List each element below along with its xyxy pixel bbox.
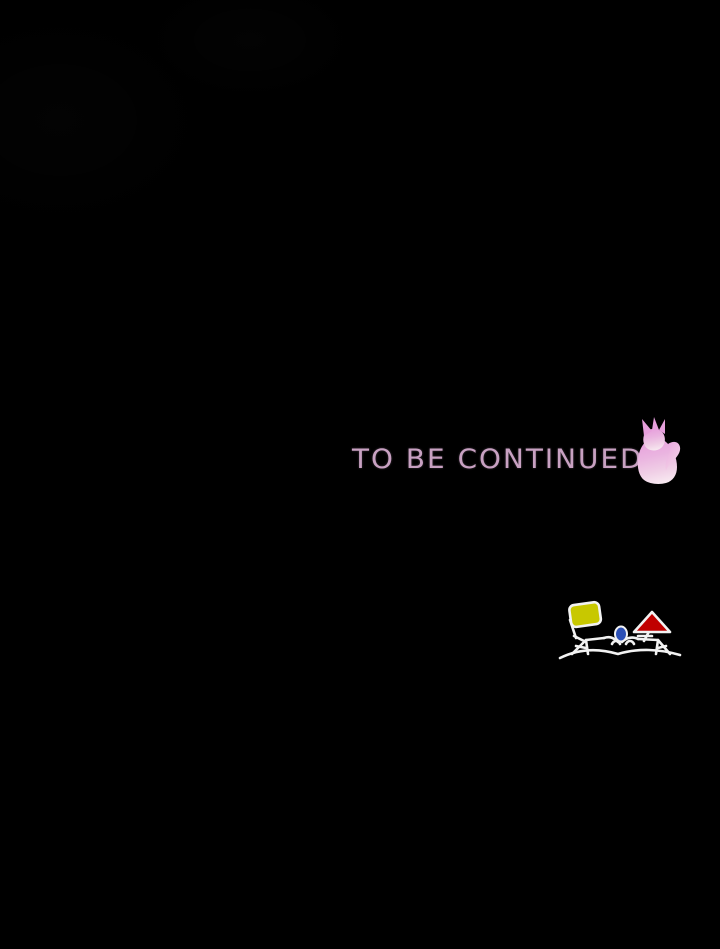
ground-line: [560, 650, 680, 658]
triangle-umbrella: [634, 612, 670, 632]
compression-noise-overlay: [0, 0, 430, 300]
square-umbrella: [569, 602, 602, 628]
video-end-card-screen: TO BE CONTINUED.: [0, 0, 720, 949]
to-be-continued-text: TO BE CONTINUED.: [352, 446, 654, 473]
beach-scene-doodle: [552, 596, 688, 678]
beach-ball: [615, 627, 627, 642]
to-be-continued-block: TO BE CONTINUED.: [352, 428, 646, 490]
